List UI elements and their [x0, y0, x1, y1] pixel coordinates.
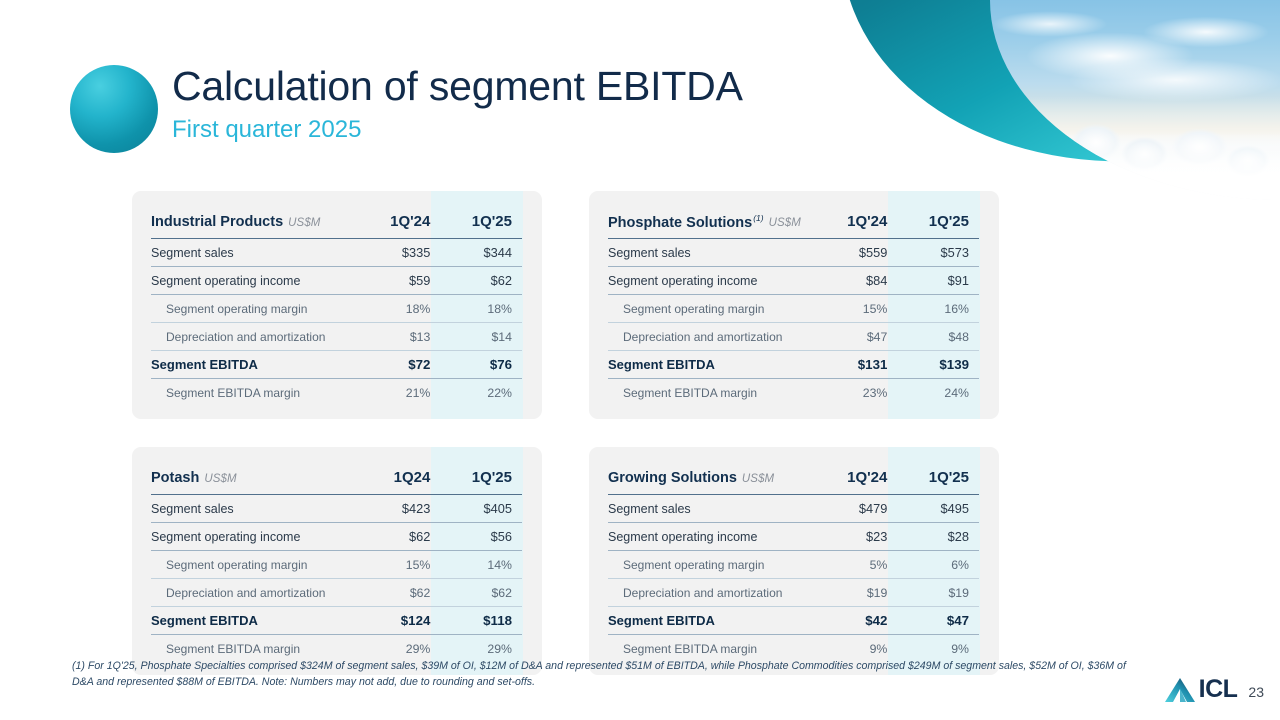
row-label: Segment operating margin — [151, 295, 359, 323]
row-value: $48 — [897, 323, 979, 351]
table-row: Depreciation and amortization$47$48 — [608, 323, 979, 351]
segment-table: PotashUS$M1Q241Q'25Segment sales$423$405… — [151, 461, 522, 662]
row-value: $62 — [359, 579, 441, 607]
row-label: Depreciation and amortization — [608, 323, 816, 351]
row-value: $91 — [897, 267, 979, 295]
row-label: Segment operating income — [151, 267, 359, 295]
table-row: Segment operating margin18%18% — [151, 295, 522, 323]
row-label: Segment EBITDA margin — [608, 379, 816, 407]
segment-table: Phosphate Solutions(1)US$M1Q'241Q'25Segm… — [608, 205, 979, 406]
sky-background — [990, 0, 1280, 200]
row-value: 16% — [897, 295, 979, 323]
table-row: Segment EBITDA margin23%24% — [608, 379, 979, 407]
column-header-period: 1Q24 — [359, 461, 441, 495]
row-label: Segment operating income — [151, 523, 359, 551]
row-value: $56 — [440, 523, 522, 551]
row-label: Segment sales — [151, 495, 359, 523]
title-block: Calculation of segment EBITDA First quar… — [70, 62, 743, 153]
unit-label: US$M — [288, 217, 320, 229]
column-header-period: 1Q'24 — [816, 205, 898, 239]
row-value: 9% — [897, 635, 979, 663]
row-label: Segment operating income — [608, 523, 816, 551]
row-value: $118 — [440, 607, 522, 635]
icl-logo: ICL — [1164, 675, 1238, 704]
row-value: $19 — [897, 579, 979, 607]
table-row: Segment EBITDA margin29%29% — [151, 635, 522, 663]
table-row: Segment operating margin15%14% — [151, 551, 522, 579]
table-row: Segment operating income$62$56 — [151, 523, 522, 551]
row-label: Depreciation and amortization — [151, 579, 359, 607]
table-header-row: PotashUS$M1Q241Q'25 — [151, 461, 522, 495]
table-row: Depreciation and amortization$62$62 — [151, 579, 522, 607]
teal-swoosh-shape — [840, 0, 1280, 195]
table-row: Segment operating income$84$91 — [608, 267, 979, 295]
row-value: 5% — [816, 551, 898, 579]
footnote-marker: (1) — [753, 213, 763, 223]
row-value: 15% — [359, 551, 441, 579]
row-value: $84 — [816, 267, 898, 295]
segment-name: PotashUS$M — [151, 461, 359, 495]
table-row: Segment EBITDA$72$76 — [151, 351, 522, 379]
icl-logo-text: ICL — [1199, 675, 1238, 704]
row-label: Segment sales — [608, 495, 816, 523]
row-value: 14% — [440, 551, 522, 579]
table-row: Segment sales$335$344 — [151, 239, 522, 267]
segment-card: Industrial ProductsUS$M1Q'241Q'25Segment… — [132, 191, 542, 419]
row-label: Depreciation and amortization — [151, 323, 359, 351]
row-label: Segment operating margin — [151, 551, 359, 579]
row-value: $19 — [816, 579, 898, 607]
unit-label: US$M — [769, 217, 801, 229]
column-header-period: 1Q'25 — [897, 461, 979, 495]
segment-name-text: Phosphate Solutions — [608, 214, 752, 230]
row-value: $405 — [440, 495, 522, 523]
row-value: $72 — [359, 351, 441, 379]
gradient-orb-accent — [70, 65, 158, 153]
header-decoration — [840, 0, 1280, 210]
segment-card: Phosphate Solutions(1)US$M1Q'241Q'25Segm… — [589, 191, 999, 419]
row-label: Segment EBITDA — [608, 351, 816, 379]
row-value: 29% — [440, 635, 522, 663]
page-number: 23 — [1248, 684, 1264, 700]
row-value: $479 — [816, 495, 898, 523]
table-row: Segment sales$559$573 — [608, 239, 979, 267]
row-label: Depreciation and amortization — [608, 579, 816, 607]
row-value: $139 — [897, 351, 979, 379]
row-value: 22% — [440, 379, 522, 407]
row-value: $47 — [897, 607, 979, 635]
row-value: $76 — [440, 351, 522, 379]
row-value: $335 — [359, 239, 441, 267]
table-row: Segment EBITDA$131$139 — [608, 351, 979, 379]
segment-name: Industrial ProductsUS$M — [151, 205, 359, 239]
table-row: Depreciation and amortization$13$14 — [151, 323, 522, 351]
segment-name-text: Potash — [151, 470, 199, 486]
row-value: $559 — [816, 239, 898, 267]
icl-triangle-icon — [1164, 676, 1198, 704]
table-row: Segment sales$423$405 — [151, 495, 522, 523]
row-value: $344 — [440, 239, 522, 267]
row-label: Segment sales — [151, 239, 359, 267]
segment-name-text: Growing Solutions — [608, 470, 737, 486]
row-value: $62 — [440, 267, 522, 295]
table-row: Segment EBITDA margin9%9% — [608, 635, 979, 663]
row-value: $423 — [359, 495, 441, 523]
row-label: Segment EBITDA — [151, 607, 359, 635]
page-subtitle: First quarter 2025 — [172, 116, 743, 145]
unit-label: US$M — [742, 473, 774, 485]
row-value: $131 — [816, 351, 898, 379]
row-value: 6% — [897, 551, 979, 579]
table-header-row: Industrial ProductsUS$M1Q'241Q'25 — [151, 205, 522, 239]
row-value: $573 — [897, 239, 979, 267]
column-header-period: 1Q'25 — [440, 461, 522, 495]
brand-footer: ICL 23 — [1164, 675, 1264, 704]
footnote-text: (1) For 1Q'25, Phosphate Specialties com… — [72, 658, 1132, 690]
row-label: Segment operating margin — [608, 295, 816, 323]
table-header-row: Growing SolutionsUS$M1Q'241Q'25 — [608, 461, 979, 495]
row-label: Segment EBITDA — [151, 351, 359, 379]
row-value: $28 — [897, 523, 979, 551]
row-value: $62 — [359, 523, 441, 551]
row-label: Segment EBITDA margin — [608, 635, 816, 663]
row-value: 24% — [897, 379, 979, 407]
table-row: Segment operating margin15%16% — [608, 295, 979, 323]
row-value: 23% — [816, 379, 898, 407]
row-value: $495 — [897, 495, 979, 523]
table-row: Depreciation and amortization$19$19 — [608, 579, 979, 607]
row-value: 29% — [359, 635, 441, 663]
page-title: Calculation of segment EBITDA — [172, 64, 743, 108]
segment-card: Growing SolutionsUS$M1Q'241Q'25Segment s… — [589, 447, 999, 675]
table-row: Segment operating income$59$62 — [151, 267, 522, 295]
unit-label: US$M — [204, 473, 236, 485]
salt-landscape-photo — [990, 0, 1280, 200]
segment-name-text: Industrial Products — [151, 214, 283, 230]
photo-fade-overlay — [990, 132, 1280, 200]
table-row: Segment operating margin5%6% — [608, 551, 979, 579]
table-row: Segment EBITDA$42$47 — [608, 607, 979, 635]
row-label: Segment EBITDA margin — [151, 635, 359, 663]
segment-table: Growing SolutionsUS$M1Q'241Q'25Segment s… — [608, 461, 979, 662]
row-label: Segment EBITDA margin — [151, 379, 359, 407]
row-label: Segment EBITDA — [608, 607, 816, 635]
row-label: Segment sales — [608, 239, 816, 267]
segment-card: PotashUS$M1Q241Q'25Segment sales$423$405… — [132, 447, 542, 675]
table-row: Segment operating income$23$28 — [608, 523, 979, 551]
column-header-period: 1Q'24 — [816, 461, 898, 495]
row-value: 21% — [359, 379, 441, 407]
column-header-period: 1Q'25 — [440, 205, 522, 239]
table-row: Segment sales$479$495 — [608, 495, 979, 523]
row-value: 9% — [816, 635, 898, 663]
row-value: $124 — [359, 607, 441, 635]
row-value: $14 — [440, 323, 522, 351]
table-header-row: Phosphate Solutions(1)US$M1Q'241Q'25 — [608, 205, 979, 239]
row-value: $23 — [816, 523, 898, 551]
salt-formations — [990, 96, 1280, 200]
row-value: 15% — [816, 295, 898, 323]
row-value: $42 — [816, 607, 898, 635]
row-label: Segment operating income — [608, 267, 816, 295]
column-header-period: 1Q'24 — [359, 205, 441, 239]
row-value: $47 — [816, 323, 898, 351]
row-value: 18% — [359, 295, 441, 323]
column-header-period: 1Q'25 — [897, 205, 979, 239]
row-value: $13 — [359, 323, 441, 351]
row-value: $59 — [359, 267, 441, 295]
row-value: $62 — [440, 579, 522, 607]
segment-name: Growing SolutionsUS$M — [608, 461, 816, 495]
row-label: Segment operating margin — [608, 551, 816, 579]
segment-table: Industrial ProductsUS$M1Q'241Q'25Segment… — [151, 205, 522, 406]
segment-tables-grid: Industrial ProductsUS$M1Q'241Q'25Segment… — [132, 191, 1012, 675]
table-row: Segment EBITDA margin21%22% — [151, 379, 522, 407]
table-row: Segment EBITDA$124$118 — [151, 607, 522, 635]
row-value: 18% — [440, 295, 522, 323]
segment-name: Phosphate Solutions(1)US$M — [608, 205, 816, 239]
